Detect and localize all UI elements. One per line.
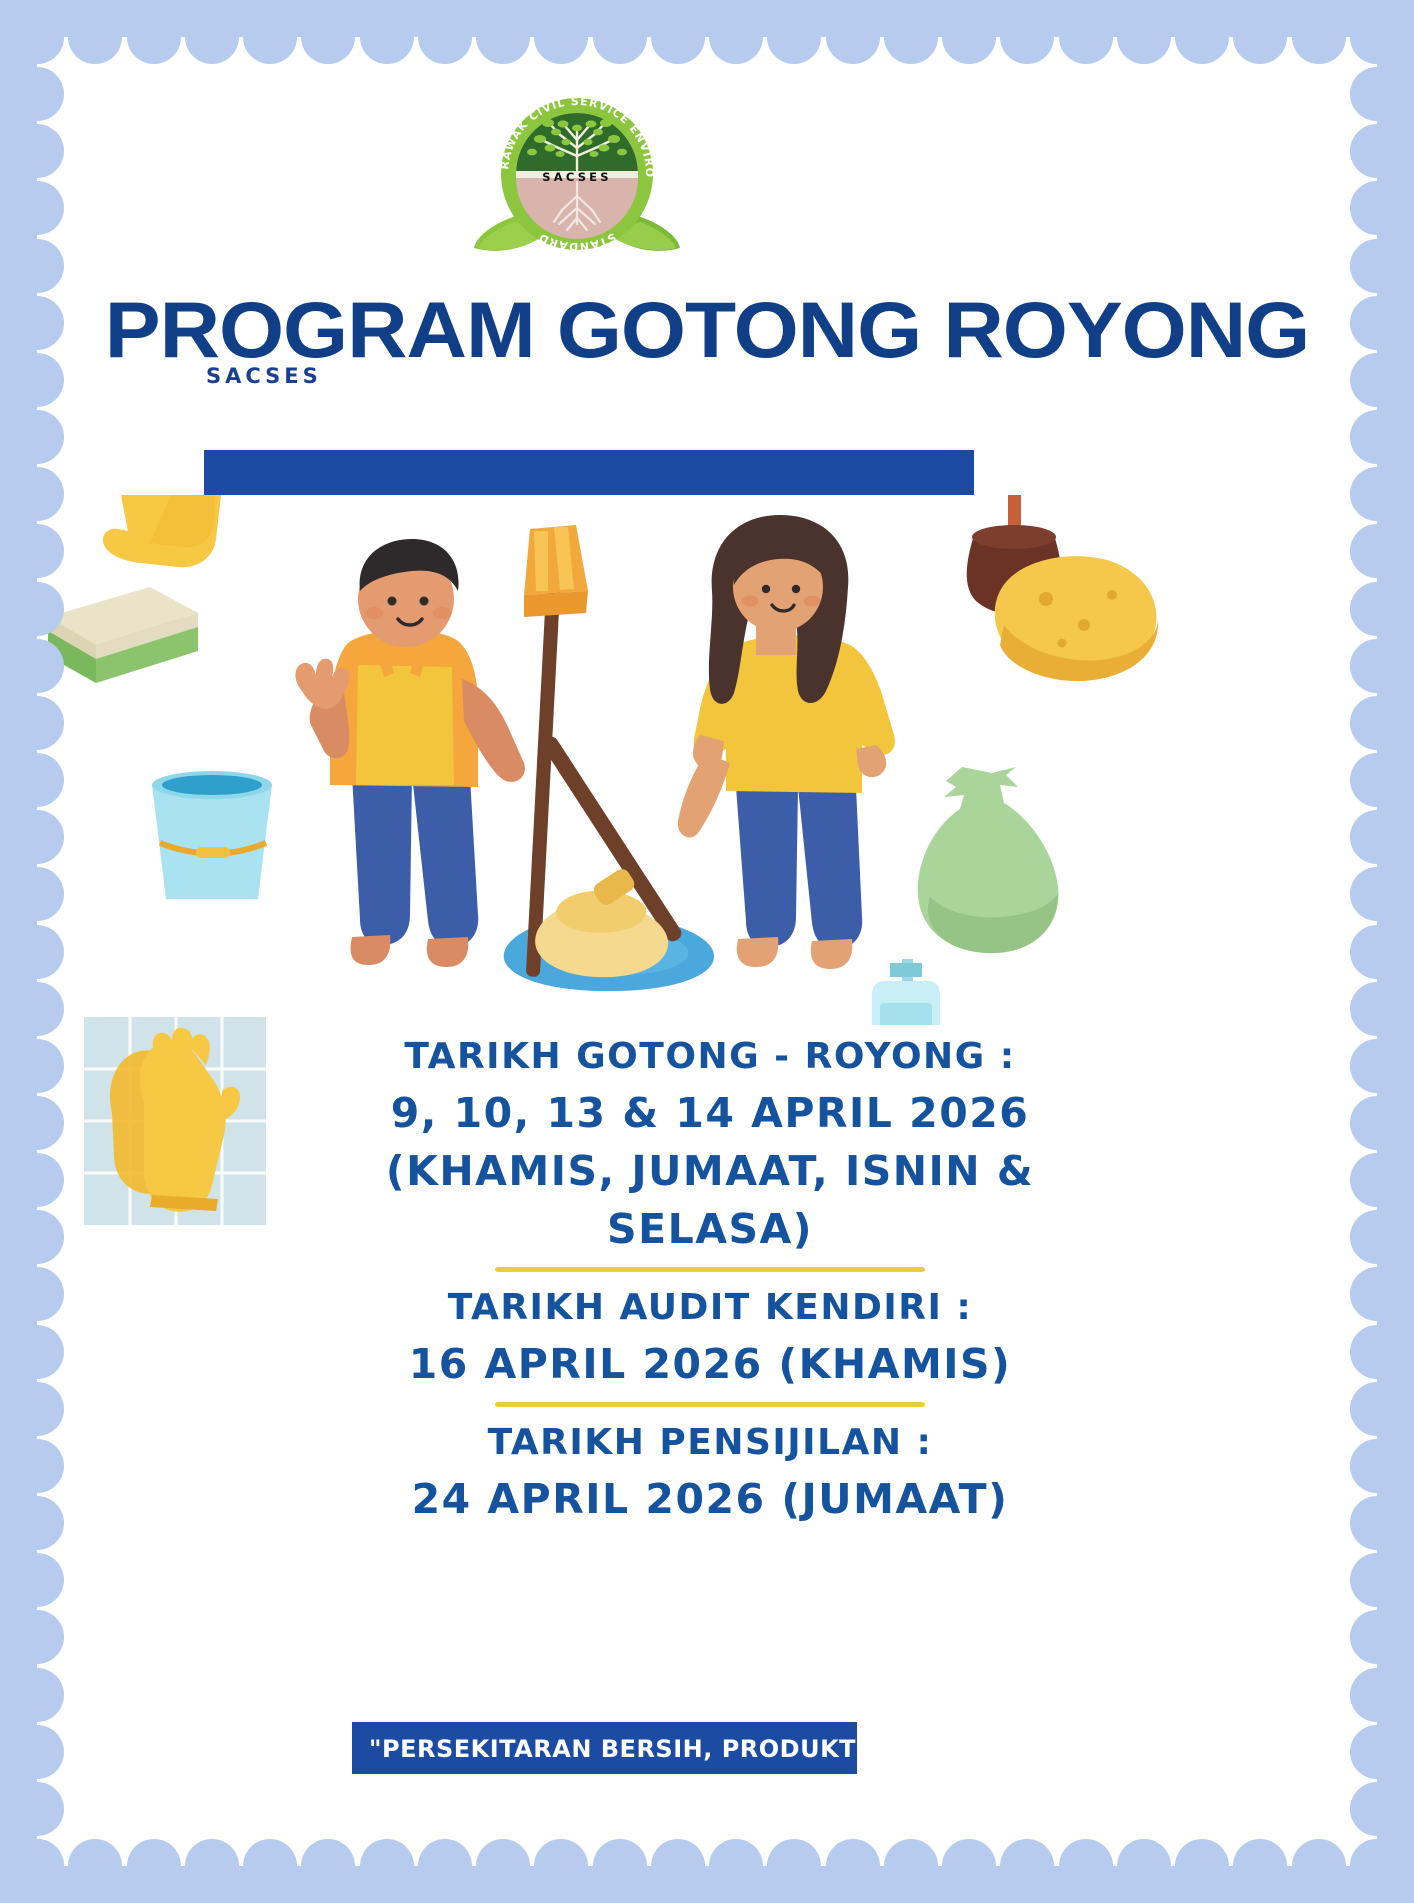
- mop: [535, 734, 684, 977]
- stamp-notch: [10, 67, 64, 121]
- stamp-notch: [476, 10, 530, 64]
- stamp-notch: [884, 10, 938, 64]
- stamp-notch: [767, 10, 821, 64]
- gotong-royong-label: TARIKH GOTONG - ROYONG :: [280, 1030, 1140, 1084]
- stamp-notch: [651, 1839, 705, 1893]
- stamp-notch: [10, 410, 64, 464]
- stamp-notch: [1350, 67, 1404, 121]
- stamp-notch: [1350, 1439, 1404, 1493]
- decorative-blue-bar: [204, 450, 974, 495]
- tagline-banner: "PERSEKITARAN BERSIH, PRODUKTIVITI MENIN…: [352, 1722, 857, 1774]
- stamp-notch: [476, 1839, 530, 1893]
- stamp-notch: [1350, 1325, 1404, 1379]
- stamp-notch: [1350, 1668, 1404, 1722]
- stamp-notch: [1350, 353, 1404, 407]
- stamp-notch: [942, 1839, 996, 1893]
- stamp-notch: [1292, 1839, 1346, 1893]
- stamp-notch: [1350, 410, 1404, 464]
- stamp-notch: [593, 1839, 647, 1893]
- stamp-notch: [1175, 1839, 1229, 1893]
- pensijilan-label: TARIKH PENSIJILAN :: [280, 1416, 1140, 1470]
- stamp-notch: [1350, 296, 1404, 350]
- stamp-notch: [243, 10, 297, 64]
- stamp-notch: [1350, 639, 1404, 693]
- gotong-royong-days: (KHAMIS, JUMAAT, ISNIN & SELASA): [280, 1142, 1140, 1258]
- stamp-notch: [10, 1782, 64, 1836]
- stamp-notch: [1350, 239, 1404, 293]
- stamp-notch: [360, 10, 414, 64]
- stamp-notch: [243, 1839, 297, 1893]
- gotong-royong-date: 9, 10, 13 & 14 APRIL 2026: [280, 1084, 1140, 1142]
- stamp-notch: [709, 1839, 763, 1893]
- stamp-notch: [1350, 124, 1404, 178]
- soap-bottle: [872, 959, 940, 1025]
- stamp-notch: [1000, 1839, 1054, 1893]
- sacses-logo: SACSES SARAWAK CIVIL SERVICE ENVIRON STA…: [462, 96, 692, 256]
- divider-2: [495, 1402, 925, 1407]
- stamp-notch: [185, 1839, 239, 1893]
- stamp-notch: [1350, 1153, 1404, 1207]
- stamp-notch: [1233, 1839, 1287, 1893]
- stamp-notch: [10, 1325, 64, 1379]
- stamp-notch: [534, 10, 588, 64]
- stamp-notch: [10, 1439, 64, 1493]
- logo-center-text: SACSES: [542, 170, 611, 184]
- stamp-notch: [301, 1839, 355, 1893]
- yellow-glove-top-left: [103, 495, 222, 567]
- stamp-notch: [68, 10, 122, 64]
- stamp-notch: [185, 10, 239, 64]
- stamp-notch: [1350, 1382, 1404, 1436]
- orange-sponge: [995, 556, 1158, 681]
- stamp-notch: [534, 1839, 588, 1893]
- stamp-notch: [10, 582, 64, 636]
- stamp-notch: [10, 1096, 64, 1150]
- glove-tile-panel: [84, 1017, 266, 1225]
- stamp-notch: [10, 124, 64, 178]
- stamp-notch: [10, 239, 64, 293]
- stamp-notch: [10, 1725, 64, 1779]
- stamp-notch: [593, 10, 647, 64]
- stamp-notch: [1350, 867, 1404, 921]
- stamp-notch: [1350, 1839, 1404, 1893]
- stamp-notch: [1350, 181, 1404, 235]
- stamp-notch: [10, 353, 64, 407]
- pensijilan-date: 24 APRIL 2026 (JUMAAT): [280, 1470, 1140, 1528]
- stamp-notch: [1350, 1039, 1404, 1093]
- stamp-notch: [10, 1553, 64, 1607]
- stamp-notch: [127, 10, 181, 64]
- stamp-notch: [10, 1210, 64, 1264]
- page-title: PROGRAM GOTONG ROYONG: [0, 284, 1414, 376]
- stamp-notch: [1350, 582, 1404, 636]
- stamp-notch: [1350, 1610, 1404, 1664]
- stamp-notch: [127, 1839, 181, 1893]
- stamp-notch: [10, 1039, 64, 1093]
- stamp-notch: [10, 925, 64, 979]
- stamp-notch: [1292, 10, 1346, 64]
- blue-bucket: [152, 771, 272, 899]
- date-block: TARIKH GOTONG - ROYONG : 9, 10, 13 & 14 …: [280, 1030, 1140, 1528]
- stamp-notch: [10, 982, 64, 1036]
- stamp-notch: [1350, 982, 1404, 1036]
- stamp-notch: [10, 753, 64, 807]
- stamp-notch: [301, 10, 355, 64]
- stamp-notch: [709, 10, 763, 64]
- stamp-notch: [826, 1839, 880, 1893]
- divider-1: [495, 1267, 925, 1272]
- green-sponge: [48, 587, 198, 683]
- stamp-notch: [651, 10, 705, 64]
- illustration-area: [0, 495, 1414, 1025]
- audit-label: TARIKH AUDIT KENDIRI :: [280, 1281, 1140, 1335]
- stamp-notch: [1350, 1267, 1404, 1321]
- stamp-notch: [1350, 1096, 1404, 1150]
- stamp-notch: [10, 639, 64, 693]
- stamp-notch: [10, 1382, 64, 1436]
- stamp-notch: [1350, 810, 1404, 864]
- stamp-notch: [1350, 925, 1404, 979]
- stamp-notch: [10, 696, 64, 750]
- stamp-notch: [1350, 1553, 1404, 1607]
- audit-date: 16 APRIL 2026 (KHAMIS): [280, 1335, 1140, 1393]
- poster-root: SACSES SARAWAK CIVIL SERVICE ENVIRON STA…: [0, 0, 1414, 1903]
- stamp-notch: [1117, 1839, 1171, 1893]
- stamp-notch: [1350, 753, 1404, 807]
- stamp-notch: [360, 1839, 414, 1893]
- stamp-notch: [10, 10, 64, 64]
- stamp-notch: [10, 1839, 64, 1893]
- stamp-notch: [1350, 467, 1404, 521]
- stamp-notch: [942, 10, 996, 64]
- stamp-notch: [10, 1153, 64, 1207]
- stamp-notch: [1059, 10, 1113, 64]
- stamp-notch: [10, 1668, 64, 1722]
- boy-with-broom: [295, 539, 524, 967]
- stamp-notch: [10, 1610, 64, 1664]
- stamp-notch: [884, 1839, 938, 1893]
- stamp-notch: [10, 810, 64, 864]
- stamp-notch: [1350, 10, 1404, 64]
- stamp-notch: [418, 10, 472, 64]
- girl-with-mop: [678, 515, 895, 969]
- stamp-notch: [418, 1839, 472, 1893]
- stamp-notch: [10, 296, 64, 350]
- green-trash-bag: [918, 767, 1059, 953]
- stamp-notch: [1350, 1496, 1404, 1550]
- stamp-notch: [1350, 1725, 1404, 1779]
- stamp-notch: [1350, 1782, 1404, 1836]
- stamp-notch: [1117, 10, 1171, 64]
- stamp-notch: [68, 1839, 122, 1893]
- stamp-notch: [10, 867, 64, 921]
- stamp-notch: [10, 467, 64, 521]
- stamp-notch: [10, 1496, 64, 1550]
- stamp-notch: [1350, 1210, 1404, 1264]
- stamp-notch: [1175, 10, 1229, 64]
- stamp-notch: [826, 10, 880, 64]
- stamp-notch: [1350, 696, 1404, 750]
- stamp-notch: [1059, 1839, 1113, 1893]
- stamp-notch: [767, 1839, 821, 1893]
- subtitle-sacses: SACSES: [206, 364, 322, 388]
- tagline-text: "PERSEKITARAN BERSIH, PRODUKTIVITI MENIN…: [369, 1735, 857, 1763]
